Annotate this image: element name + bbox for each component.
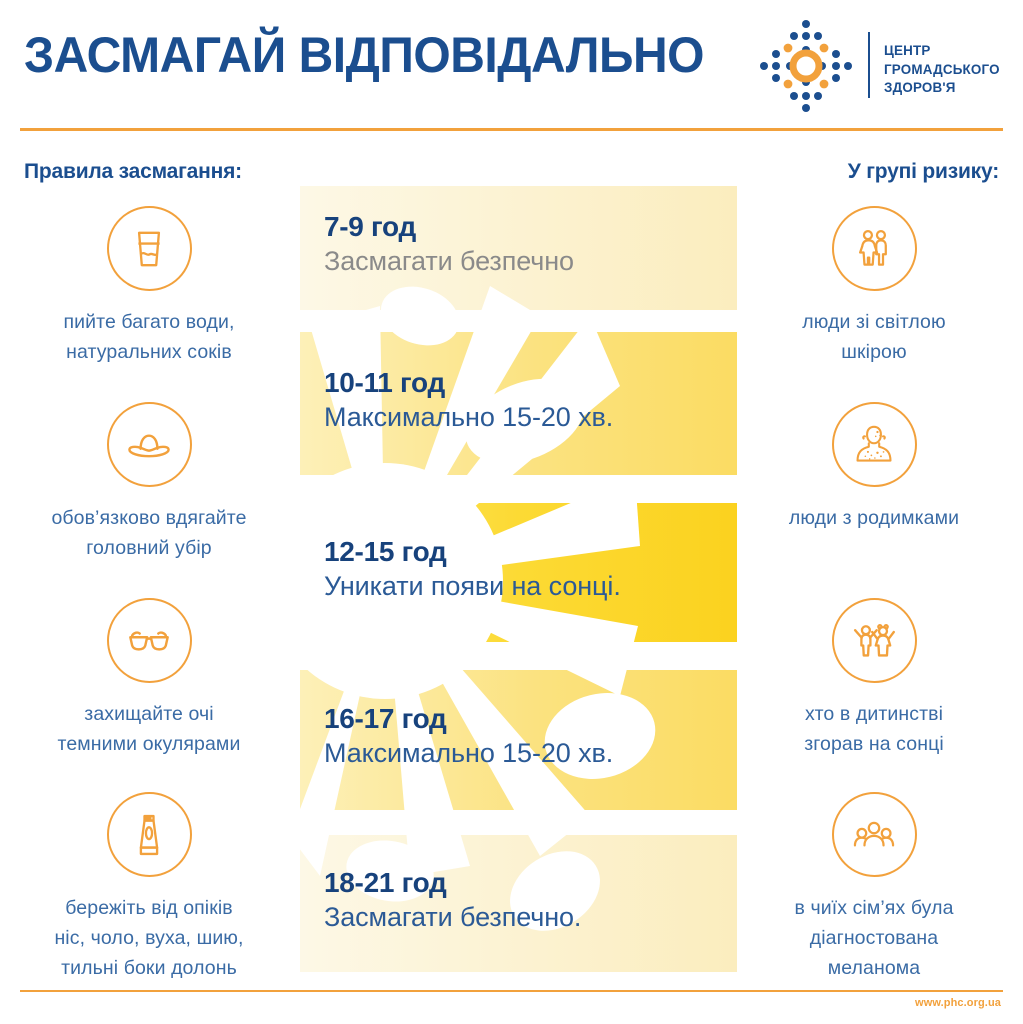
time-band-description: Засмагати безпечно (324, 245, 727, 277)
header-divider (20, 128, 1003, 131)
time-band-description: Засмагати безпечно. (324, 901, 727, 933)
left-column-heading: Правила засмагання: (24, 160, 242, 184)
risk-item-4: в чиїх сім’ях буладіагностованамеланома (729, 792, 1019, 983)
person-with-moles-icon (832, 402, 917, 487)
time-band-description: Максимально 15-20 хв. (324, 737, 727, 769)
two-children-icon (832, 598, 917, 683)
time-band-description: Максимально 15-20 хв. (324, 401, 727, 433)
time-band-text-5: 18-21 годЗасмагати безпечно. (324, 868, 727, 934)
time-band-hours: 18-21 год (324, 868, 727, 897)
risk-item-2: люди з родимками (729, 402, 1019, 533)
risk-item-label: в чиїх сім’ях буладіагностованамеланома (729, 893, 1019, 983)
risk-item-1: люди зі світлоюшкірою (729, 206, 1019, 367)
time-band-hours: 7-9 год (324, 212, 727, 241)
time-band-text-3: 12-15 годУникати появи на сонці. (324, 537, 727, 603)
rule-item-3: захищайте очітемними окулярами (4, 598, 294, 759)
right-column-heading: У групі ризику: (848, 160, 999, 184)
logo-line-3: Здоров'я (884, 79, 1014, 98)
footer-divider (20, 990, 1003, 992)
time-bands: 7-9 годЗасмагати безпечно10-11 годМаксим… (300, 186, 737, 972)
rule-item-4: бережіть від опіківніс, чоло, вуха, шию,… (4, 792, 294, 983)
logo-line-2: Громадського (884, 61, 1014, 80)
couple-icon (832, 206, 917, 291)
footer-url: www.phc.org.ua (915, 997, 1001, 1009)
logo-line-1: Центр (884, 42, 1014, 61)
rule-item-label: захищайте очітемними окулярами (4, 699, 294, 759)
time-band-hours: 16-17 год (324, 704, 727, 733)
rule-item-2: обов’язково вдягайтеголовний убір (4, 402, 294, 563)
sun-dots-logo-icon (758, 18, 854, 114)
rule-item-label: обов’язково вдягайтеголовний убір (4, 503, 294, 563)
page-title: ЗАСМАГАЙ ВІДПОВІДАЛЬНО (24, 26, 704, 84)
sunglasses-icon (107, 598, 192, 683)
time-band-hours: 10-11 год (324, 368, 727, 397)
rule-item-label: бережіть від опіківніс, чоло, вуха, шию,… (4, 893, 294, 983)
page-header: ЗАСМАГАЙ ВІДПОВІДАЛЬНО (0, 0, 1023, 131)
time-band-text-1: 7-9 годЗасмагати безпечно (324, 212, 727, 278)
risk-item-label: люди з родимками (729, 503, 1019, 533)
time-band-hours: 12-15 год (324, 537, 727, 566)
risk-item-label: хто в дитинствізгорав на сонці (729, 699, 1019, 759)
logo-divider (868, 32, 870, 98)
sun-hat-icon (107, 402, 192, 487)
sunscreen-tube-icon (107, 792, 192, 877)
infographic-page: ЗАСМАГАЙ ВІДПОВІДАЛЬНО (0, 0, 1023, 1024)
time-band-text-4: 16-17 годМаксимально 15-20 хв. (324, 704, 727, 770)
family-group-icon (832, 792, 917, 877)
time-band-text-2: 10-11 годМаксимально 15-20 хв. (324, 368, 727, 434)
risk-item-3: хто в дитинствізгорав на сонці (729, 598, 1019, 759)
water-glass-icon (107, 206, 192, 291)
logo-wordmark: Центр Громадського Здоров'я (884, 42, 1014, 98)
rule-item-label: пийте багато води,натуральних соків (4, 307, 294, 367)
time-band-description: Уникати появи на сонці. (324, 570, 727, 602)
risk-item-label: люди зі світлоюшкірою (729, 307, 1019, 367)
organization-logo: Центр Громадського Здоров'я (758, 18, 1008, 114)
rule-item-1: пийте багато води,натуральних соків (4, 206, 294, 367)
